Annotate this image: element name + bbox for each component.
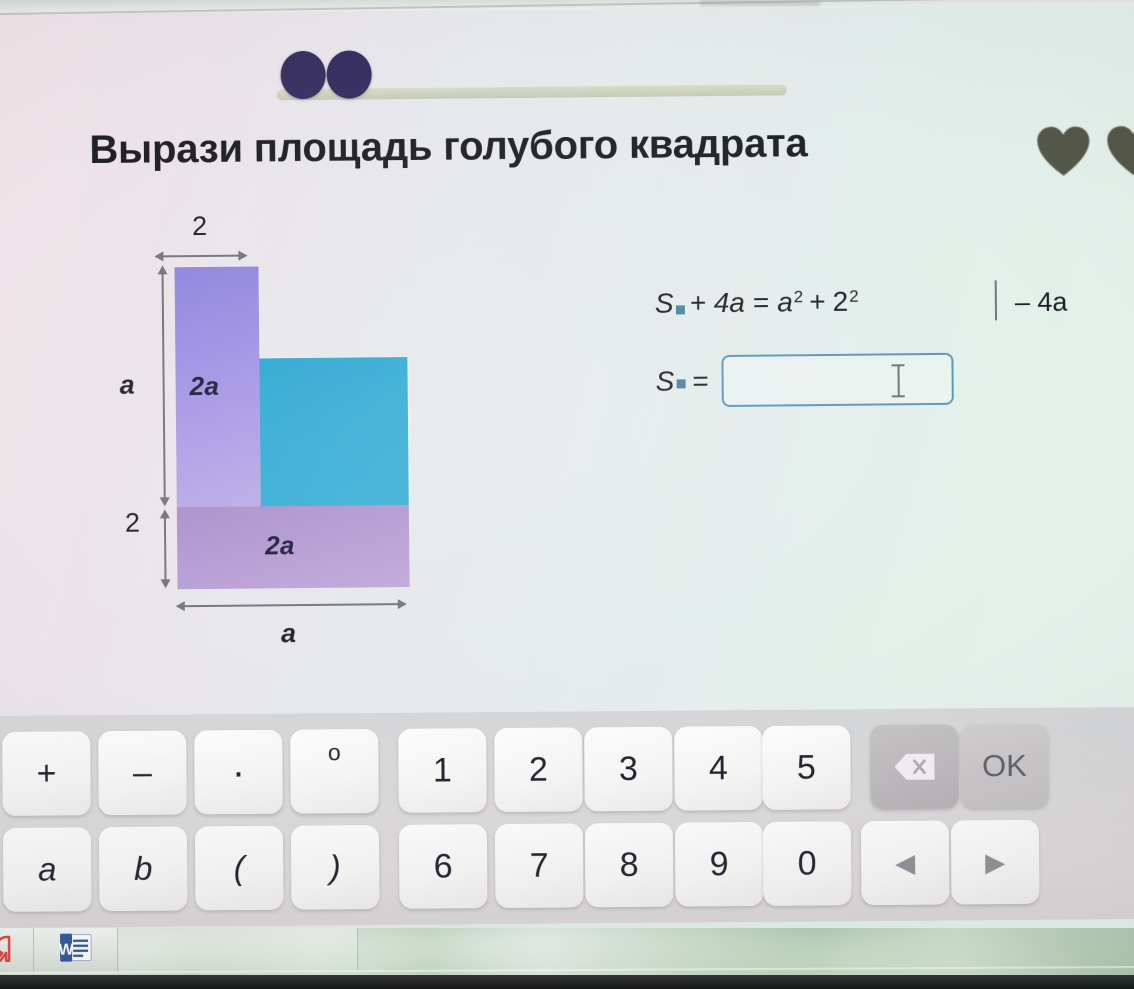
- key-3[interactable]: 3: [584, 727, 673, 812]
- equation-line-2: S =: [655, 353, 954, 408]
- taskbar-item-yandex[interactable]: [0, 928, 34, 972]
- answer-input[interactable]: [721, 353, 953, 407]
- taskbar: W: [0, 928, 1134, 972]
- progress-dot-1: [280, 51, 325, 99]
- key-b[interactable]: b: [99, 826, 188, 911]
- key-multiply[interactable]: ·: [194, 730, 283, 815]
- dimension-label-top: 2: [192, 211, 207, 242]
- key-paren-close[interactable]: ): [291, 825, 380, 910]
- taskbar-empty-area[interactable]: [118, 928, 358, 971]
- key-backspace[interactable]: [870, 724, 959, 809]
- lives-counter: [1035, 125, 1134, 178]
- progress-dot-2: [326, 50, 371, 98]
- key-0[interactable]: 0: [763, 821, 852, 906]
- key-superscript[interactable]: o: [290, 729, 379, 814]
- blue-square-marker-icon: [676, 379, 685, 388]
- equation-equals: =: [753, 287, 770, 319]
- key-6[interactable]: 6: [399, 824, 488, 909]
- arrowhead-down-left-upper: [160, 497, 170, 506]
- blue-square: [259, 357, 408, 506]
- answer-equals: =: [692, 365, 709, 397]
- dimension-arrow-left-lower: [164, 517, 166, 583]
- yandex-browser-icon: [0, 933, 17, 966]
- windows-desktop: W: [0, 928, 1134, 989]
- shape-group: 2a 2a: [174, 265, 409, 589]
- operation-divider: [995, 280, 997, 320]
- arrowhead-left-top: [154, 251, 163, 261]
- key-9[interactable]: 9: [675, 822, 764, 907]
- svg-text:W: W: [59, 941, 75, 958]
- taskbar-item-word[interactable]: W: [34, 928, 118, 972]
- arrowhead-right-bottom: [398, 599, 407, 609]
- dimension-arrow-bottom: [184, 603, 406, 607]
- equation-plus-term: + 4a: [689, 287, 745, 320]
- arrowhead-down-left-lower: [160, 579, 170, 588]
- equation-rhs-exp-2: 2: [849, 287, 859, 307]
- keyboard-row-1: + – · o 1 2 3 4 5 OK: [0, 719, 1134, 820]
- key-paren-open[interactable]: (: [195, 826, 284, 911]
- progress-bar: [277, 84, 787, 101]
- equation-rhs-plus: +: [809, 286, 826, 318]
- keyboard-row-2: a b ( ) 6 7 8 9 0 ◀ ▶: [0, 815, 1134, 916]
- screen-photo: Вырази площадь голубого квадрата 2 a: [0, 0, 1134, 989]
- equation-area: S + 4a = a 2 + 2 2 – 4a S =: [655, 283, 1106, 427]
- key-ok[interactable]: OK: [960, 724, 1049, 809]
- operation-hint: – 4a: [1015, 287, 1068, 319]
- s-symbol: S: [655, 287, 674, 319]
- geometry-figure: 2 a 2 2a 2a: [114, 209, 448, 652]
- math-keyboard: + – · o 1 2 3 4 5 OK a b ( ): [0, 707, 1134, 928]
- label-left-rect-area: 2a: [189, 371, 219, 402]
- equation-rhs-base-2: 2: [832, 286, 848, 318]
- text-cursor-icon: [892, 364, 905, 397]
- key-arrow-left[interactable]: ◀: [861, 821, 950, 906]
- arrowhead-up-left-lower: [160, 509, 170, 518]
- key-7[interactable]: 7: [495, 823, 584, 908]
- equation-rhs-base-1: a: [777, 286, 793, 318]
- key-2[interactable]: 2: [494, 727, 583, 812]
- arrowhead-left-bottom: [176, 601, 185, 611]
- arrowhead-right-top: [238, 251, 247, 261]
- dimension-label-left-lower: 2: [125, 508, 140, 539]
- blue-square-marker-icon: [676, 305, 685, 314]
- dimension-label-bottom: a: [281, 618, 296, 649]
- equation-rhs-exp-1: 2: [794, 287, 804, 307]
- microsoft-word-icon: W: [59, 932, 93, 967]
- monitor-lower-bezel: [0, 975, 1134, 989]
- key-5[interactable]: 5: [762, 725, 851, 810]
- heart-icon: [1105, 125, 1134, 178]
- key-plus[interactable]: +: [2, 731, 91, 816]
- exercise-app: Вырази площадь голубого квадрата 2 a: [0, 0, 1134, 714]
- arrowhead-up-left: [157, 265, 167, 274]
- equation-line-1: S + 4a = a 2 + 2 2: [655, 286, 858, 320]
- dimension-arrow-left-upper: [162, 273, 166, 501]
- backspace-icon: [892, 752, 936, 782]
- key-4[interactable]: 4: [674, 726, 763, 811]
- key-minus[interactable]: –: [98, 730, 187, 815]
- key-8[interactable]: 8: [585, 823, 674, 908]
- key-a[interactable]: a: [3, 827, 92, 912]
- key-arrow-right[interactable]: ▶: [951, 820, 1040, 905]
- key-1[interactable]: 1: [398, 728, 487, 813]
- dimension-arrow-top: [162, 255, 246, 257]
- heart-icon: [1035, 125, 1091, 178]
- s-symbol-answer: S: [655, 365, 674, 397]
- dimension-label-left-upper: a: [119, 370, 134, 401]
- label-bottom-rect-area: 2a: [265, 530, 295, 561]
- page-title: Вырази площадь голубого квадрата: [89, 119, 989, 173]
